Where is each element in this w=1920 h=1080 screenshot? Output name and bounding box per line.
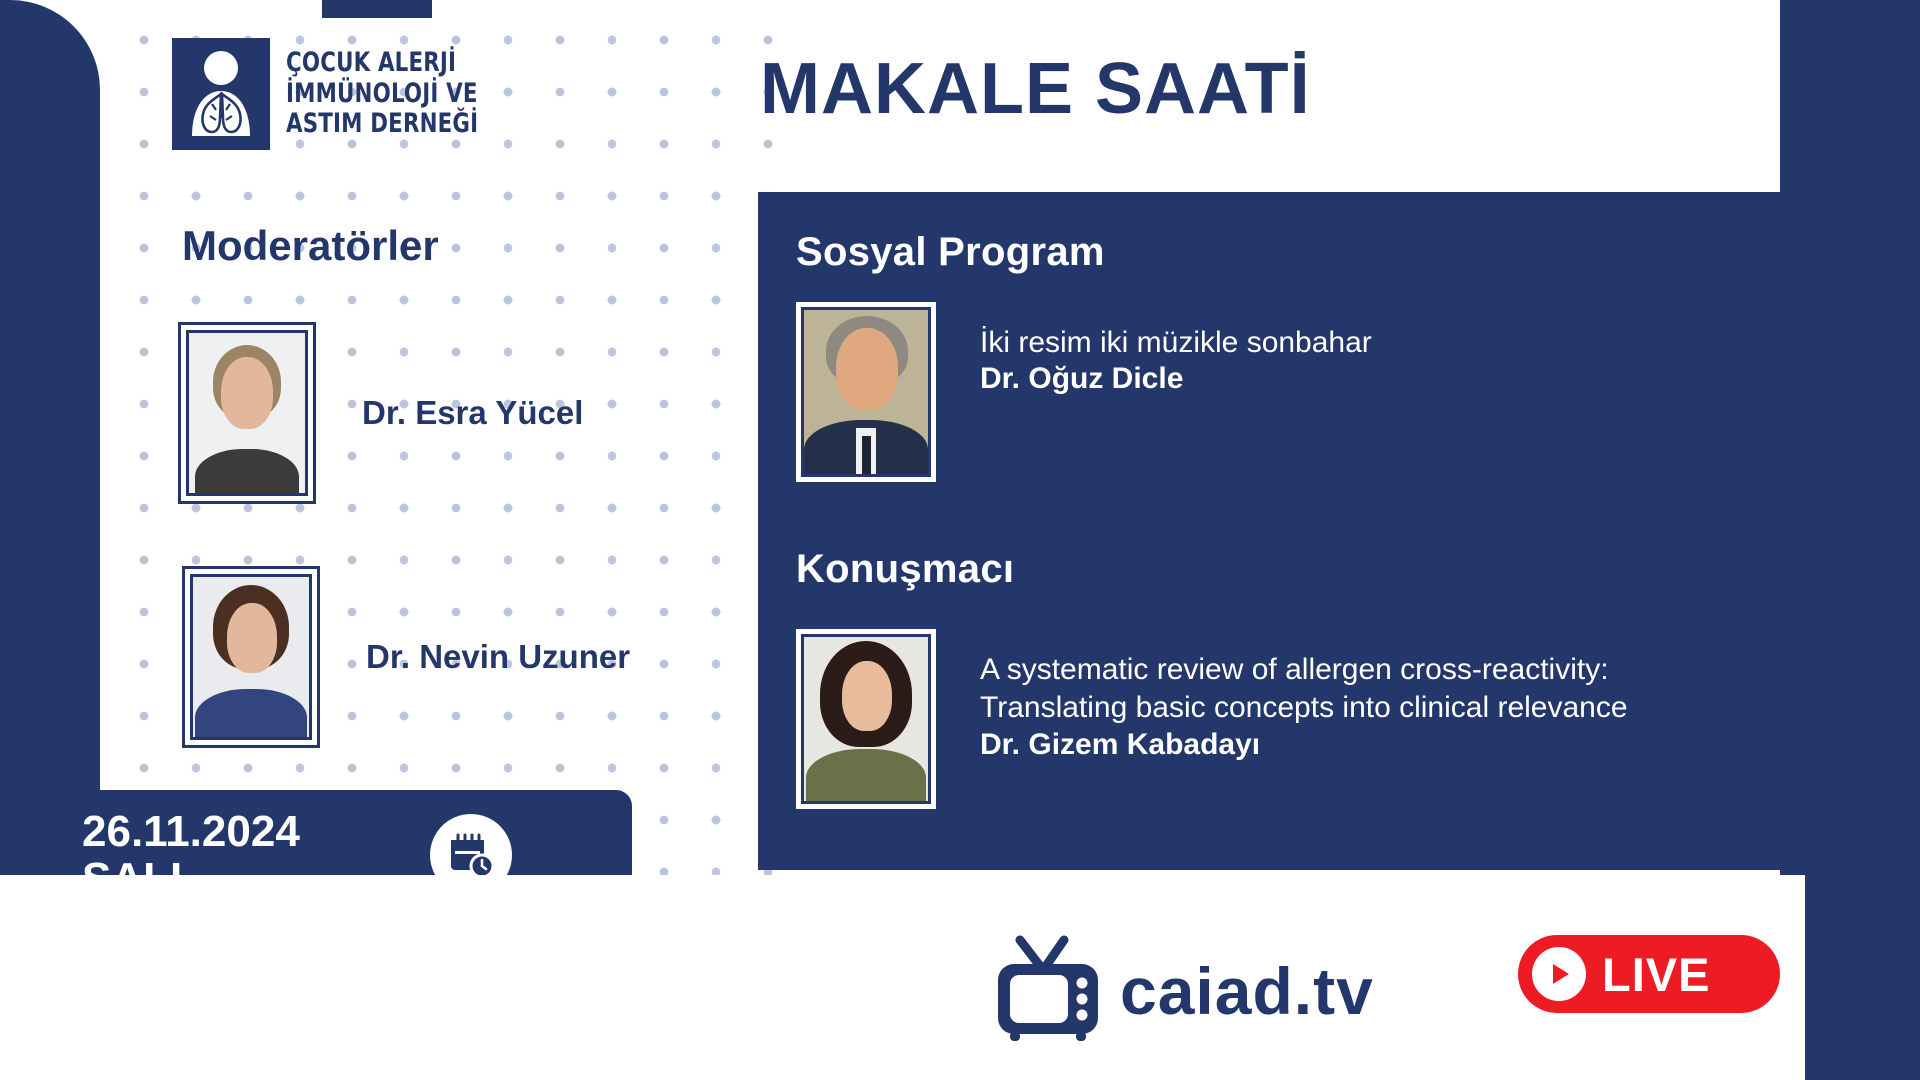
program-panel: Sosyal Program İki resim iki müzikle son… (758, 192, 1920, 870)
moderator-name: Dr. Esra Yücel (362, 394, 583, 432)
entry-title-line-2: Translating basic concepts into clinical… (980, 691, 1628, 724)
moderator-row: Dr. Esra Yücel (178, 322, 583, 504)
logo-line-3: ASTIM DERNEĞİ (286, 108, 478, 139)
live-label: LIVE (1602, 947, 1710, 1002)
avatar (178, 322, 316, 504)
event-date: 26.11.2024 (82, 807, 300, 856)
entry-person: Dr. Oğuz Dicle (980, 362, 1183, 395)
portrait-oguz-dicle (801, 307, 931, 477)
play-icon (1532, 947, 1586, 1001)
portrait-gizem-kabadayi (801, 634, 931, 804)
portrait-nevin-uzuner (190, 574, 312, 740)
moderator-row: Dr. Nevin Uzuner (182, 566, 630, 748)
association-logo: ÇOCUK ALERJİ İMMÜNOLOJİ VE ASTIM DERNEĞİ (172, 38, 505, 150)
avatar (796, 629, 936, 809)
page-title: MAKALE SAATİ (760, 48, 1311, 130)
program-entry: İki resim iki müzikle sonbahar Dr. Oğuz … (796, 302, 1372, 482)
entry-text: İki resim iki müzikle sonbahar Dr. Oğuz … (980, 302, 1372, 396)
person-lungs-icon (172, 38, 270, 150)
entry-text: A systematic review of allergen cross-re… (980, 629, 1628, 762)
top-navy-tab (322, 0, 432, 18)
dot-pattern-top-mask (110, 0, 810, 28)
program-entry: A systematic review of allergen cross-re… (796, 629, 1628, 809)
moderators-heading: Moderatörler (182, 222, 439, 270)
section-heading-sosyal-program: Sosyal Program (796, 230, 1105, 275)
moderator-name: Dr. Nevin Uzuner (366, 638, 630, 676)
entry-title-line-1: A systematic review of allergen cross-re… (980, 653, 1609, 686)
logo-line-1: ÇOCUK ALERJİ (286, 47, 456, 78)
entry-person: Dr. Gizem Kabadayı (980, 728, 1260, 761)
avatar (796, 302, 936, 482)
logo-line-2: İMMÜNOLOJİ VE (286, 78, 478, 109)
avatar (182, 566, 320, 748)
brand-wordmark: caiad.tv (1120, 953, 1374, 1029)
portrait-esra-yucel (186, 330, 308, 496)
section-heading-konusmaci: Konuşmacı (796, 547, 1014, 592)
tv-icon (990, 930, 1110, 1051)
brand-logo[interactable]: caiad.tv (990, 930, 1374, 1051)
entry-title: İki resim iki müzikle sonbahar (980, 326, 1372, 359)
live-badge[interactable]: LIVE (1518, 935, 1780, 1013)
logo-wordmark: ÇOCUK ALERJİ İMMÜNOLOJİ VE ASTIM DERNEĞİ (286, 48, 478, 140)
poster-canvas: ÇOCUK ALERJİ İMMÜNOLOJİ VE ASTIM DERNEĞİ… (0, 0, 1920, 1080)
